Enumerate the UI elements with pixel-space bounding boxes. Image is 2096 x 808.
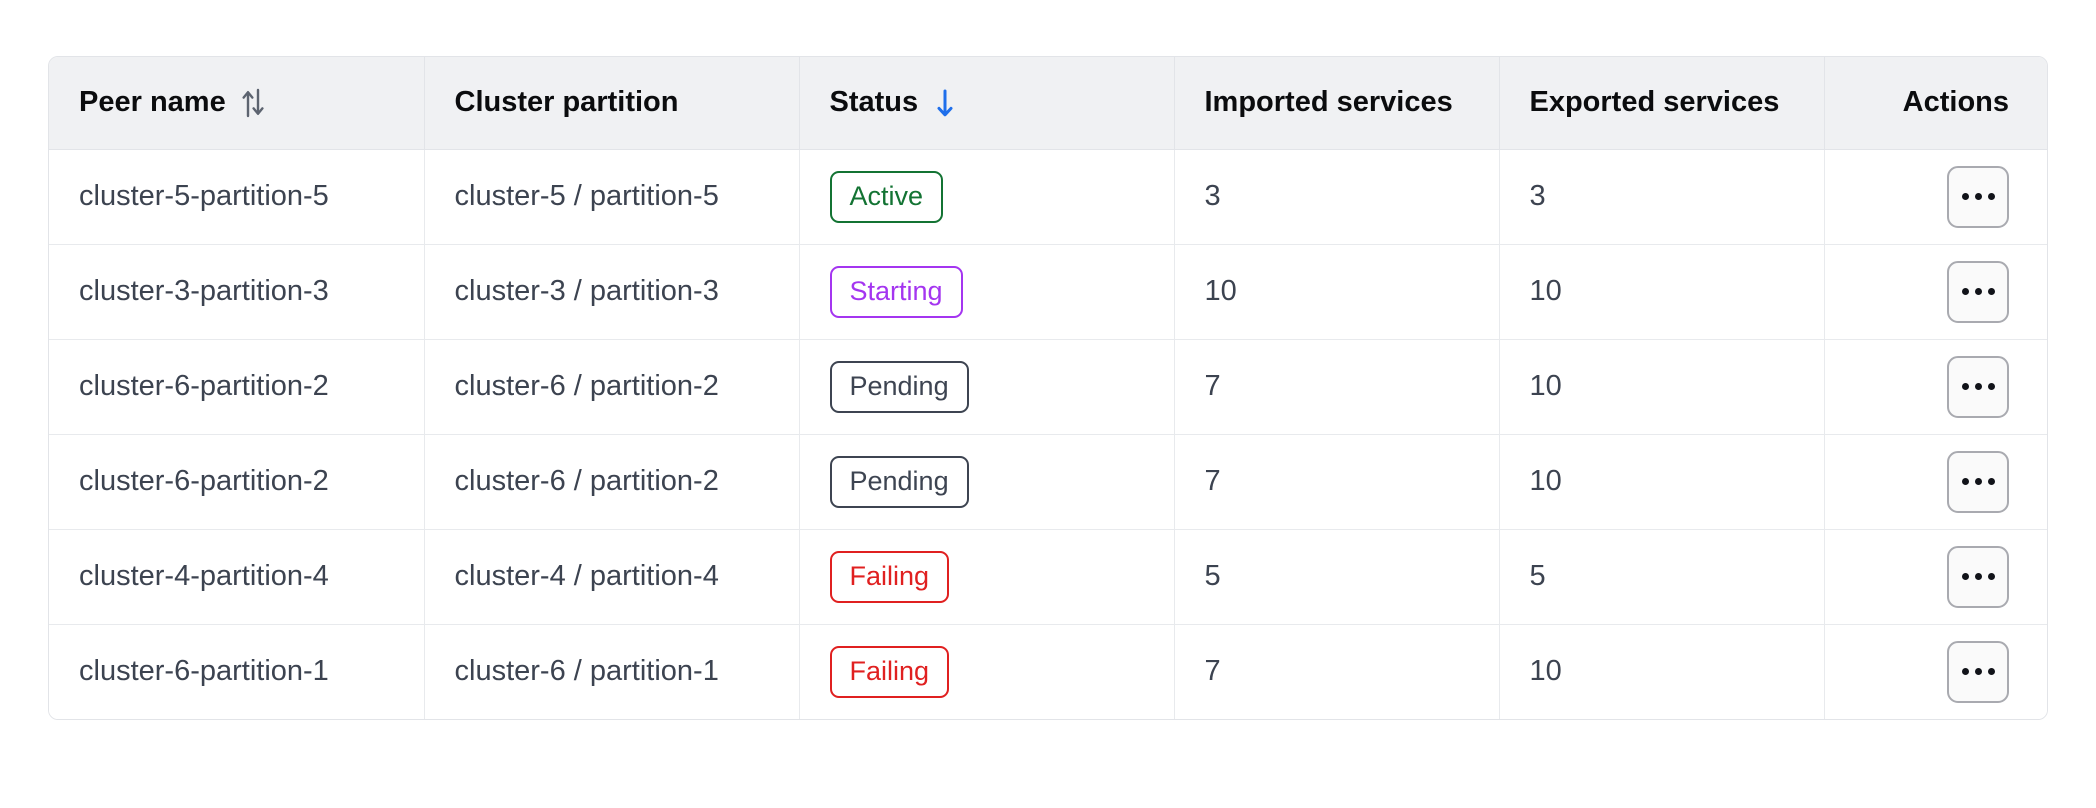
table-header-row: Peer name bbox=[49, 57, 2048, 149]
ellipsis-icon bbox=[1962, 478, 1995, 485]
column-header-label: Imported services bbox=[1205, 86, 1453, 119]
status-badge: Pending bbox=[830, 361, 969, 413]
cell-cluster-partition: cluster-6 / partition-2 bbox=[424, 339, 799, 434]
cell-exported-services: 5 bbox=[1499, 529, 1824, 624]
cell-status: Failing bbox=[799, 529, 1174, 624]
cell-cluster-partition: cluster-5 / partition-5 bbox=[424, 149, 799, 244]
cell-status: Failing bbox=[799, 624, 1174, 719]
cell-exported-services: 10 bbox=[1499, 339, 1824, 434]
cell-exported-services: 10 bbox=[1499, 244, 1824, 339]
cell-peer-name: cluster-4-partition-4 bbox=[49, 529, 424, 624]
cell-imported-services: 7 bbox=[1174, 624, 1499, 719]
status-badge: Failing bbox=[830, 551, 950, 603]
column-header-actions: Actions bbox=[1824, 57, 2048, 149]
cell-exported-services: 10 bbox=[1499, 624, 1824, 719]
cell-peer-name: cluster-3-partition-3 bbox=[49, 244, 424, 339]
table-header: Peer name bbox=[49, 57, 2048, 149]
column-header-label: Exported services bbox=[1530, 86, 1780, 119]
row-actions-button[interactable] bbox=[1947, 546, 2009, 608]
cell-exported-services: 10 bbox=[1499, 434, 1824, 529]
cell-status: Active bbox=[799, 149, 1174, 244]
column-header-label: Peer name bbox=[79, 86, 226, 119]
cell-imported-services: 3 bbox=[1174, 149, 1499, 244]
table-row[interactable]: cluster-6-partition-1 cluster-6 / partit… bbox=[49, 624, 2048, 719]
cell-cluster-partition: cluster-3 / partition-3 bbox=[424, 244, 799, 339]
ellipsis-icon bbox=[1962, 288, 1995, 295]
status-badge: Failing bbox=[830, 646, 950, 698]
ellipsis-icon bbox=[1962, 383, 1995, 390]
column-header-exported-services[interactable]: Exported services bbox=[1499, 57, 1824, 149]
table-row[interactable]: cluster-6-partition-2 cluster-6 / partit… bbox=[49, 339, 2048, 434]
cell-actions bbox=[1824, 149, 2048, 244]
cell-imported-services: 5 bbox=[1174, 529, 1499, 624]
cell-imported-services: 10 bbox=[1174, 244, 1499, 339]
column-header-label: Status bbox=[830, 86, 919, 119]
page-root: Peer name bbox=[0, 0, 2096, 808]
column-header-cluster-partition[interactable]: Cluster partition bbox=[424, 57, 799, 149]
cell-cluster-partition: cluster-6 / partition-2 bbox=[424, 434, 799, 529]
ellipsis-icon bbox=[1962, 573, 1995, 580]
row-actions-button[interactable] bbox=[1947, 166, 2009, 228]
cell-imported-services: 7 bbox=[1174, 339, 1499, 434]
table-row[interactable]: cluster-6-partition-2 cluster-6 / partit… bbox=[49, 434, 2048, 529]
column-header-imported-services[interactable]: Imported services bbox=[1174, 57, 1499, 149]
cell-status: Starting bbox=[799, 244, 1174, 339]
cell-exported-services: 3 bbox=[1499, 149, 1824, 244]
status-badge: Active bbox=[830, 171, 944, 223]
peers-table: Peer name bbox=[49, 57, 2048, 719]
column-header-label: Actions bbox=[1903, 86, 2009, 118]
column-header-status[interactable]: Status bbox=[799, 57, 1174, 149]
peers-table-container: Peer name bbox=[48, 56, 2048, 720]
cell-peer-name: cluster-6-partition-2 bbox=[49, 339, 424, 434]
ellipsis-icon bbox=[1962, 193, 1995, 200]
table-body: cluster-5-partition-5 cluster-5 / partit… bbox=[49, 149, 2048, 719]
cell-status: Pending bbox=[799, 339, 1174, 434]
table-row[interactable]: cluster-5-partition-5 cluster-5 / partit… bbox=[49, 149, 2048, 244]
sort-down-icon[interactable] bbox=[932, 86, 958, 120]
table-row[interactable]: cluster-3-partition-3 cluster-3 / partit… bbox=[49, 244, 2048, 339]
table-row[interactable]: cluster-4-partition-4 cluster-4 / partit… bbox=[49, 529, 2048, 624]
cell-actions bbox=[1824, 339, 2048, 434]
cell-actions bbox=[1824, 244, 2048, 339]
sort-both-icon[interactable] bbox=[240, 86, 266, 120]
status-badge: Pending bbox=[830, 456, 969, 508]
column-header-peer-name[interactable]: Peer name bbox=[49, 57, 424, 149]
cell-peer-name: cluster-6-partition-2 bbox=[49, 434, 424, 529]
status-badge: Starting bbox=[830, 266, 963, 318]
cell-cluster-partition: cluster-4 / partition-4 bbox=[424, 529, 799, 624]
column-header-label: Cluster partition bbox=[455, 86, 679, 119]
cell-peer-name: cluster-6-partition-1 bbox=[49, 624, 424, 719]
row-actions-button[interactable] bbox=[1947, 261, 2009, 323]
ellipsis-icon bbox=[1962, 668, 1995, 675]
row-actions-button[interactable] bbox=[1947, 641, 2009, 703]
row-actions-button[interactable] bbox=[1947, 356, 2009, 418]
cell-actions bbox=[1824, 624, 2048, 719]
cell-actions bbox=[1824, 529, 2048, 624]
cell-status: Pending bbox=[799, 434, 1174, 529]
row-actions-button[interactable] bbox=[1947, 451, 2009, 513]
cell-peer-name: cluster-5-partition-5 bbox=[49, 149, 424, 244]
cell-actions bbox=[1824, 434, 2048, 529]
cell-imported-services: 7 bbox=[1174, 434, 1499, 529]
cell-cluster-partition: cluster-6 / partition-1 bbox=[424, 624, 799, 719]
